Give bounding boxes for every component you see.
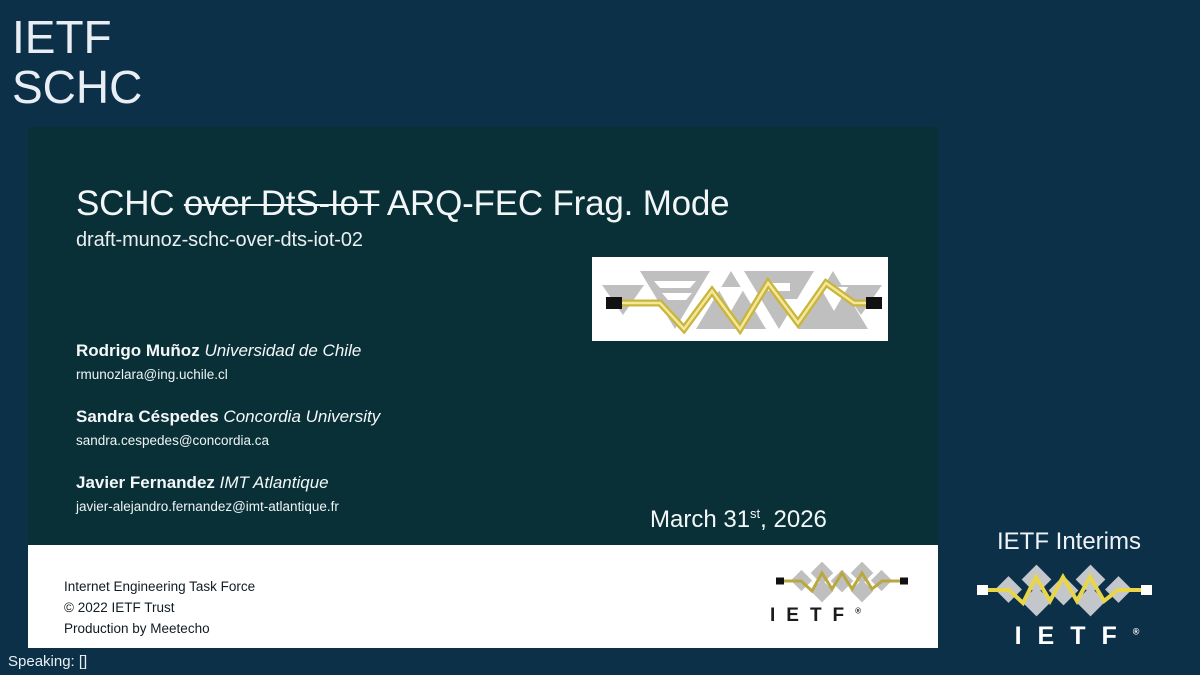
ietf-diamond-icon [969,562,1169,618]
author-name: Javier Fernandez [76,473,215,492]
ietf-diamond-icon [770,561,920,605]
ietf-wordmark-text: IETF [1015,622,1133,650]
slide-date-monthday: March 31 [650,506,750,533]
author-email: sandra.cespedes@concordia.ca [76,431,380,451]
author-name: Rodrigo Muñoz [76,341,200,360]
author-entry: Sandra Céspedes Concordia University san… [76,406,380,451]
author-email: javier-alejandro.fernandez@imt-atlantiqu… [76,497,380,517]
slide-title: SCHC over DtS-IoT ARQ-FEC Frag. Mode [76,184,729,224]
right-panel: IETF Interims IETF® [938,0,1200,675]
footer-line-3: Production by Meetecho [64,618,255,639]
author-affiliation: IMT Atlantique [220,473,329,492]
ietf-wordmark-text: IETF [770,605,855,626]
footer-line-2: © 2022 IETF Trust [64,597,255,618]
author-heading: Javier Fernandez IMT Atlantique [76,472,380,494]
slide-title-struck: over DtS-IoT [184,184,379,223]
schc-logo-icon [592,257,888,341]
slide-footer-text: Internet Engineering Task Force © 2022 I… [64,576,255,639]
author-email: rmunozlara@ing.uchile.cl [76,365,380,385]
footer-line-1: Internet Engineering Task Force [64,576,255,597]
slide-title-prefix: SCHC [76,184,184,223]
slide-title-suffix: ARQ-FEC Frag. Mode [379,184,729,223]
schc-logo-image [592,257,888,341]
registered-mark: ® [1133,627,1140,637]
ietf-wordmark-footer: IETF® [770,605,920,627]
registered-mark: ® [855,607,861,616]
slide-date-ordinal: st [750,506,760,521]
author-affiliation: Concordia University [223,407,380,426]
interims-title: IETF Interims [938,528,1200,556]
slide-date-year: , 2026 [760,506,827,533]
ietf-logo-panel: IETF® [938,562,1200,651]
slide-subtitle: draft-munoz-schc-over-dts-iot-02 [76,229,363,252]
authors-list: Rodrigo Muñoz Universidad de Chile rmuno… [76,340,380,538]
ietf-wordmark-panel: IETF® [999,622,1140,651]
author-entry: Javier Fernandez IMT Atlantique javier-a… [76,472,380,517]
author-entry: Rodrigo Muñoz Universidad de Chile rmuno… [76,340,380,385]
slide-stage[interactable]: SCHC over DtS-IoT ARQ-FEC Frag. Mode dra… [28,127,938,648]
slide-date: March 31st, 2026 [650,506,827,534]
ietf-logo-footer: IETF® [770,561,920,636]
author-affiliation: Universidad de Chile [204,341,361,360]
slide-footer: Internet Engineering Task Force © 2022 I… [28,545,938,648]
author-heading: Rodrigo Muñoz Universidad de Chile [76,340,380,362]
speaking-status-bar: Speaking: [] [0,648,938,675]
author-name: Sandra Céspedes [76,407,219,426]
author-heading: Sandra Céspedes Concordia University [76,406,380,428]
